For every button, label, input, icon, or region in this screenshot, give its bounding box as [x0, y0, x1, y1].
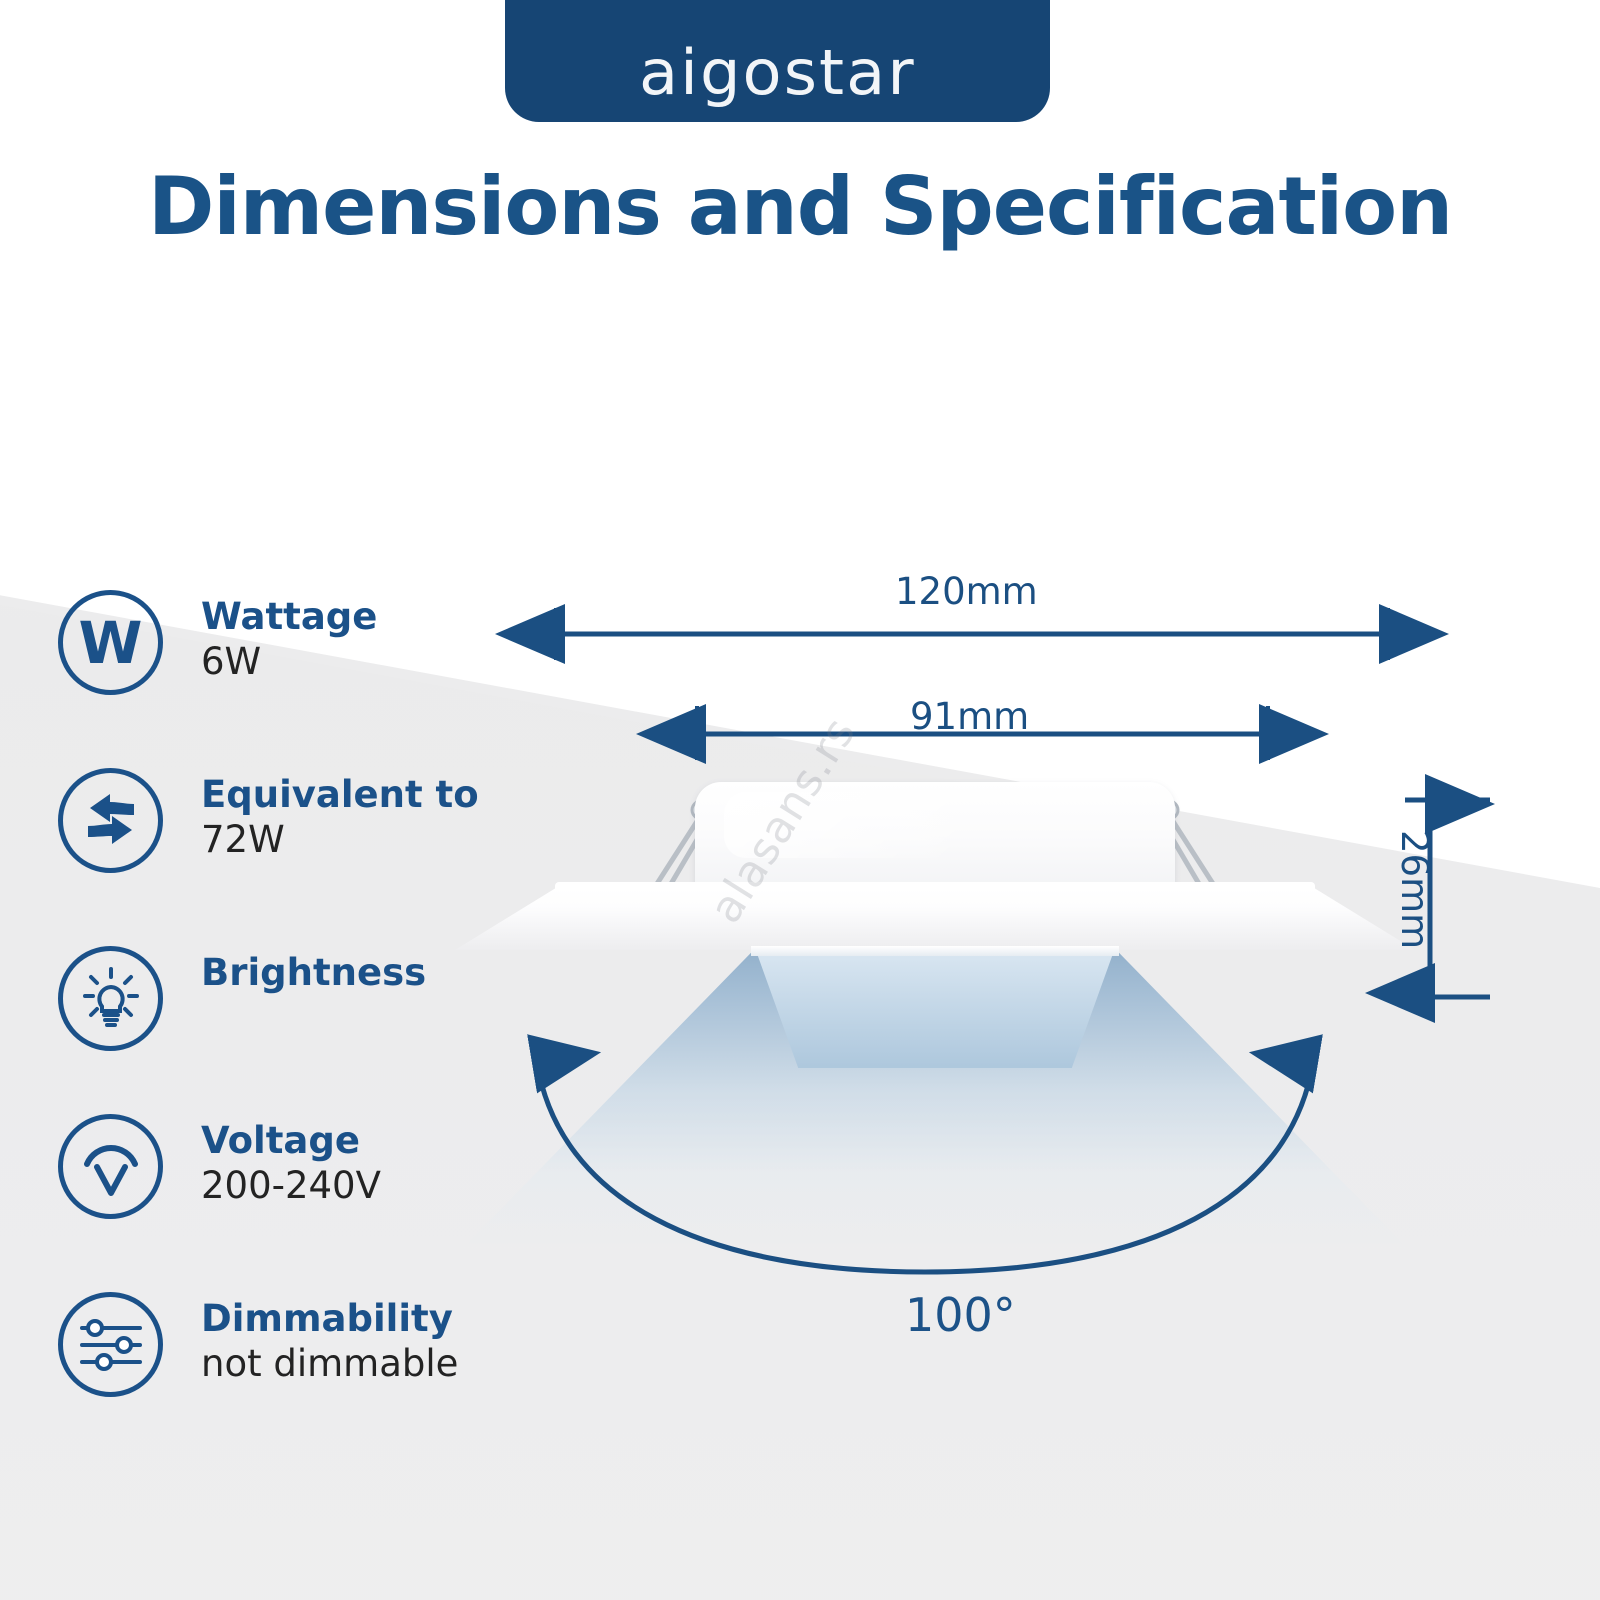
spec-value-dimmability: not dimmable	[201, 1341, 458, 1387]
spec-value-wattage: 6W	[201, 639, 377, 685]
brightness-bulb-icon	[58, 946, 163, 1051]
product-bezel-flange	[455, 888, 1415, 950]
brand-logo-badge: aigostar	[505, 0, 1050, 122]
spec-item-voltage: Voltage 200-240V	[58, 1114, 381, 1219]
spec-text-group: Dimmability not dimmable	[201, 1292, 458, 1387]
spec-label-equivalent: Equivalent to	[201, 774, 479, 817]
equivalent-arrows-icon	[58, 768, 163, 873]
wattage-w-icon: W	[58, 590, 163, 695]
voltage-v-icon	[58, 1114, 163, 1219]
spec-label-brightness: Brightness	[201, 952, 426, 995]
light-beam-lip	[751, 946, 1119, 956]
voltage-glyph	[77, 1137, 145, 1197]
spec-text-group: Brightness	[201, 946, 426, 995]
spec-item-wattage: W Wattage 6W	[58, 590, 377, 695]
light-bulb-glyph	[77, 965, 145, 1033]
dimension-label-outer-width: 120mm	[895, 570, 1038, 613]
sliders-glyph	[78, 1318, 144, 1372]
light-beam-inner-recess	[755, 948, 1115, 1068]
spec-item-dimmability: Dimmability not dimmable	[58, 1292, 458, 1397]
spec-label-wattage: Wattage	[201, 596, 377, 639]
dimension-label-height: 26mm	[1393, 830, 1436, 949]
spec-text-group: Voltage 200-240V	[201, 1114, 381, 1209]
two-way-arrows-glyph	[76, 790, 146, 852]
beam-angle-label: 100°	[905, 1288, 1016, 1342]
spec-value-equivalent: 72W	[201, 817, 479, 863]
spec-item-brightness: Brightness	[58, 946, 426, 1051]
spec-text-group: Equivalent to 72W	[201, 768, 479, 863]
spec-item-equivalent: Equivalent to 72W	[58, 768, 479, 873]
product-image-led-downlight	[455, 770, 1415, 1330]
brand-logo-text: aigostar	[639, 42, 916, 104]
wattage-letter: W	[79, 614, 143, 672]
dimension-label-cutout-width: 91mm	[910, 695, 1029, 738]
page-title: Dimensions and Specification	[0, 160, 1600, 253]
dimmability-sliders-icon	[58, 1292, 163, 1397]
spec-sheet-canvas: aigostar Dimensions and Specification W …	[0, 0, 1600, 1600]
spec-label-dimmability: Dimmability	[201, 1298, 458, 1341]
spec-value-voltage: 200-240V	[201, 1163, 381, 1209]
spec-text-group: Wattage 6W	[201, 590, 377, 685]
spec-label-voltage: Voltage	[201, 1120, 381, 1163]
